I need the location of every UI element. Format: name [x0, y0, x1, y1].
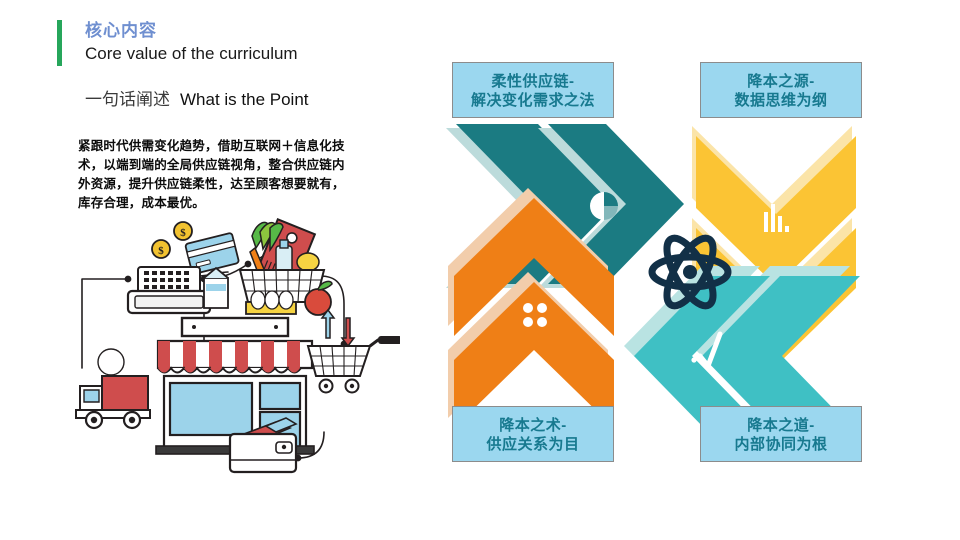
page-title-en: Core value of the curriculum — [85, 44, 298, 64]
up-down-arrows — [322, 310, 354, 346]
dollar-coin: $ $ — [152, 222, 192, 258]
label-top-left[interactable]: 柔性供应链- 解决变化需求之法 — [452, 62, 614, 118]
retail-supply-chain-illustration: $ $ — [70, 218, 400, 493]
label-bottom-right-line1: 降本之道- — [701, 416, 861, 435]
label-bottom-right[interactable]: 降本之道- 内部协同为根 — [700, 406, 862, 462]
slide-canvas: 核心内容 Core value of the curriculum 一句话阐述W… — [0, 0, 960, 540]
page-title-cn: 核心内容 — [85, 16, 157, 41]
label-top-right[interactable]: 降本之源- 数据思维为纲 — [700, 62, 862, 118]
subheading-cn: 一句话阐述 — [85, 90, 170, 109]
label-top-left-line2: 解决变化需求之法 — [453, 91, 613, 110]
label-bottom-left[interactable]: 降本之术- 供应关系为目 — [452, 406, 614, 462]
body-paragraph: 紧跟时代供需变化趋势，借助互联网＋信息化技术，以端到端的全局供应链视角，整合供应… — [78, 137, 350, 213]
subheading-en: What is the Point — [180, 90, 309, 109]
label-top-right-line1: 降本之源- — [701, 72, 861, 91]
label-bottom-left-line1: 降本之术- — [453, 416, 613, 435]
subheading: 一句话阐述What is the Point — [85, 85, 309, 110]
pos-terminal — [128, 267, 210, 313]
label-bottom-right-line2: 内部协同为根 — [701, 435, 861, 454]
label-top-right-line2: 数据思维为纲 — [701, 91, 861, 110]
svg-text:$: $ — [158, 245, 164, 257]
label-bottom-left-line2: 供应关系为目 — [453, 435, 613, 454]
accent-bar — [57, 20, 62, 66]
svg-text:$: $ — [180, 227, 186, 239]
label-top-left-line1: 柔性供应链- — [453, 72, 613, 91]
shopping-cart — [308, 310, 400, 393]
pie-chart-icon — [590, 192, 618, 220]
delivery-truck — [76, 349, 150, 428]
